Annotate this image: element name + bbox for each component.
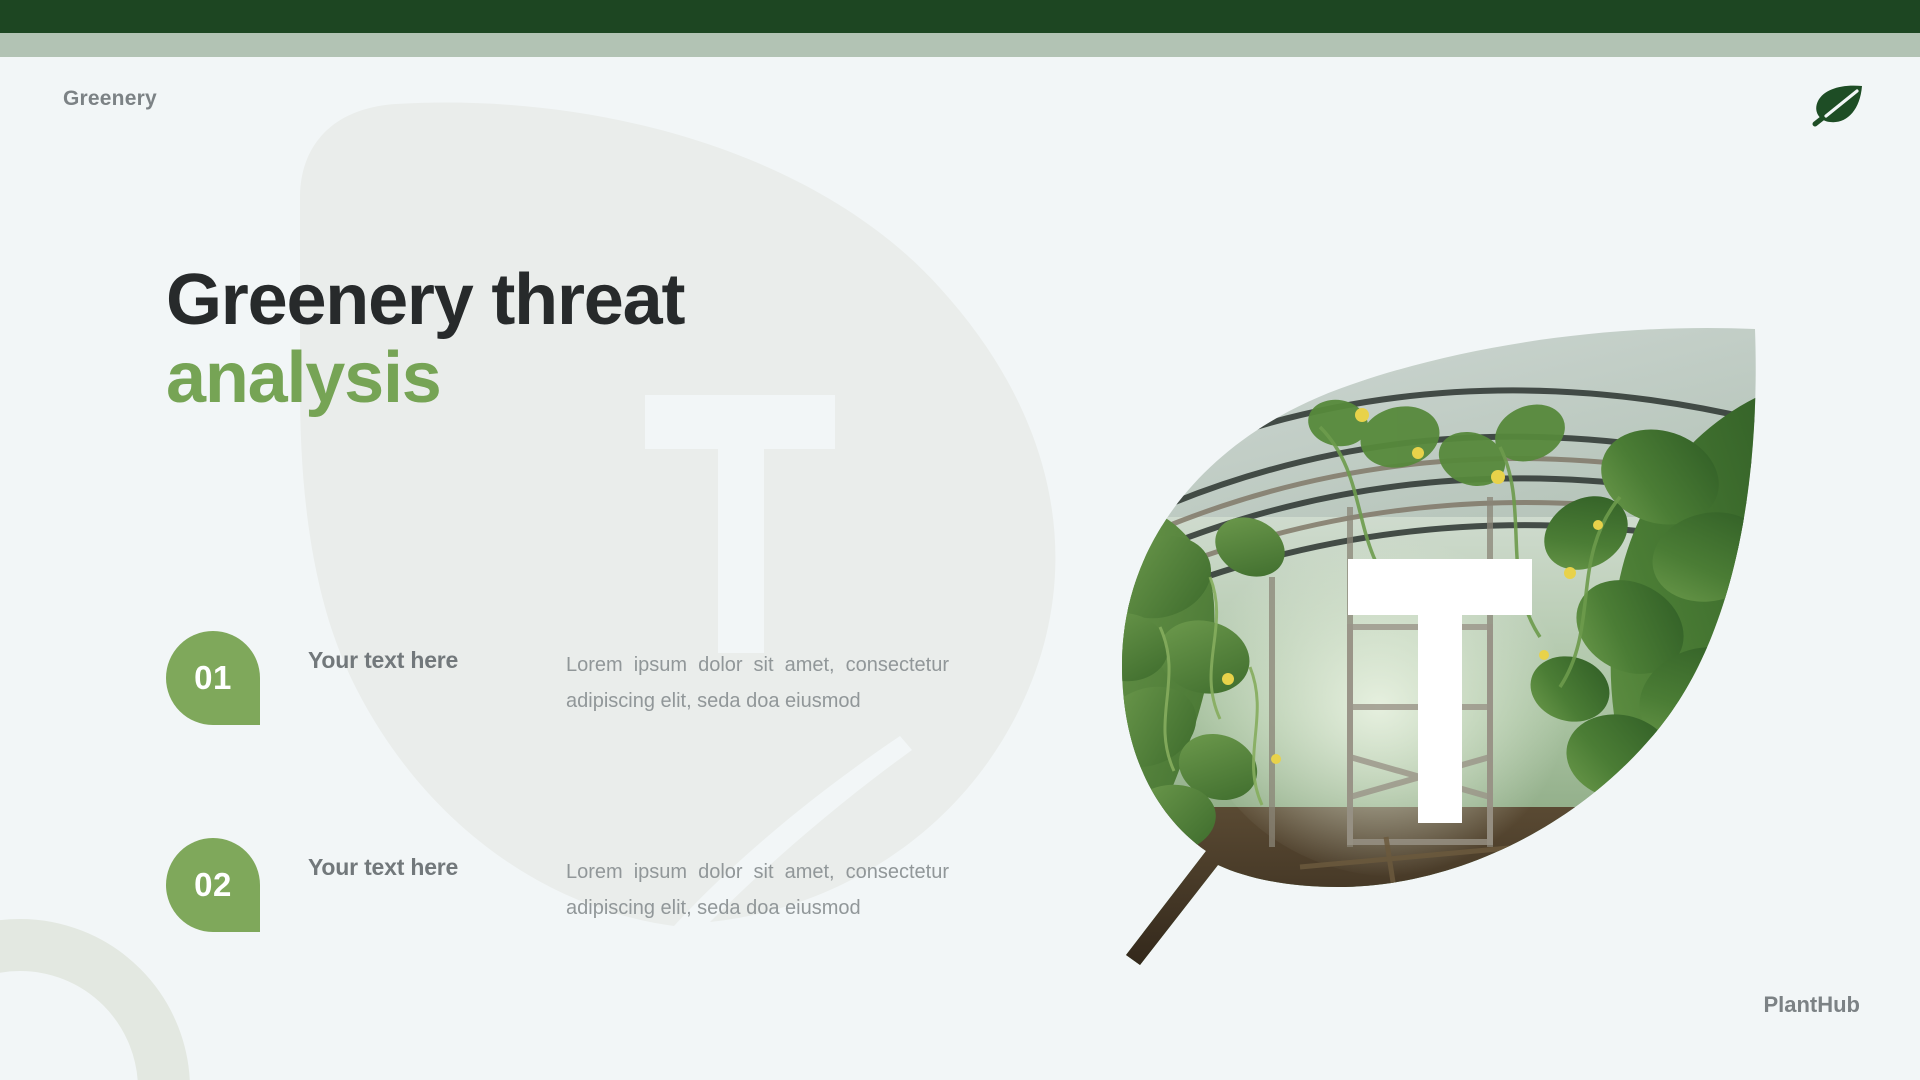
top-accent-bar-sage <box>0 33 1920 57</box>
feature-row: 02 Your text here Lorem ipsum dolor sit … <box>166 834 966 984</box>
feature-row: 01 Your text here Lorem ipsum dolor sit … <box>166 627 966 777</box>
title-line-accent: analysis <box>166 338 926 419</box>
feature-heading: Your text here <box>308 647 566 674</box>
feature-body-text: Lorem ipsum dolor sit amet, consectetur … <box>566 648 949 719</box>
feature-heading: Your text here <box>308 854 566 881</box>
ghost-letter-t <box>645 395 835 653</box>
feature-number-badge: 02 <box>166 838 260 932</box>
leaf-masked-photo <box>1100 327 1760 967</box>
feature-body-text: Lorem ipsum dolor sit amet, consectetur … <box>566 855 949 926</box>
ghost-letter-stem <box>718 449 764 653</box>
page-title: Greenery threat analysis <box>166 262 926 419</box>
slide-canvas: Greenery Greenery threat analysis 01 You… <box>0 57 1920 1080</box>
corner-ring-decoration <box>0 919 190 1080</box>
eyebrow-label: Greenery <box>63 87 157 111</box>
feature-number-badge: 01 <box>166 631 260 725</box>
top-accent-bar-dark <box>0 0 1920 33</box>
title-line-primary: Greenery threat <box>166 262 926 338</box>
footer-brand: PlantHub <box>1763 992 1860 1018</box>
leaf-icon <box>1812 83 1866 129</box>
leaf-silhouette-decoration <box>300 102 1090 957</box>
